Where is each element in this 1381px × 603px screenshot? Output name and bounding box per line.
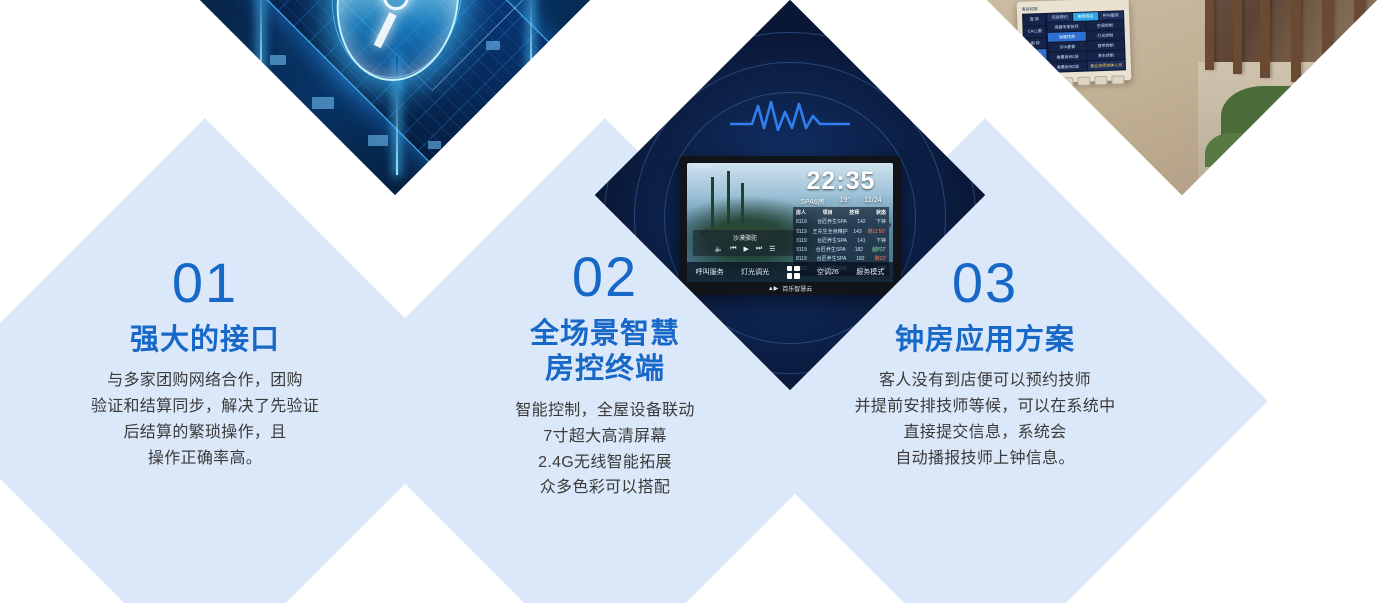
panel-grid-item[interactable]: 茶水控制 — [1087, 50, 1125, 60]
panel-grid-item[interactable]: 窗帘控制 — [1087, 40, 1125, 50]
light-beam — [260, 0, 262, 75]
panel-button-on[interactable] — [1094, 76, 1107, 85]
heartbeat-pulse-icon — [730, 98, 850, 134]
circuit-chip — [270, 55, 286, 65]
panel-function-grid[interactable]: 保健专家技师 空调控制 保健技师 灯光控制 SPA套餐 窗帘控制 香薰房间1层 … — [1048, 20, 1125, 72]
wallpaper-tree — [727, 171, 730, 233]
panel-menu-item[interactable]: 查 钟 — [1025, 61, 1048, 73]
panel-button-menu[interactable] — [1060, 77, 1073, 86]
playlist-icon[interactable]: ☰ — [769, 245, 775, 253]
panel-button-back[interactable] — [1043, 78, 1056, 87]
wood-slat — [1354, 0, 1365, 90]
wallpaper-tree — [711, 177, 714, 233]
media-controls[interactable]: 🔈 ⏮ ▶ ⏭ ☰ — [714, 245, 775, 253]
card-01-image — [200, 0, 590, 195]
cyber-shield-scene — [200, 0, 590, 195]
home-grid-icon[interactable] — [787, 266, 800, 279]
brand-name: 百乐智慧云 — [782, 284, 812, 293]
panel-menu-item-selected[interactable]: 换钟员 — [1024, 49, 1047, 61]
brand-arrow-icon: ▲▶ — [768, 285, 779, 292]
panel-tab[interactable]: 空房预约 — [1048, 13, 1073, 22]
panel-grid-item[interactable]: 灯光控制 — [1087, 30, 1125, 40]
card-02-description: 智能控制，全屋设备联动 7寸超大高清屏幕 2.4G无线智能拓展 众多色彩可以搭配 — [515, 398, 694, 502]
feature-diamonds-banner: 01 强大的接口 与多家团购网络合作，团购 验证和结算同步，解决了先验证 后结算… — [0, 0, 1381, 603]
media-track-title: 沙漠骆驼 — [733, 233, 757, 242]
wood-slat — [1291, 0, 1301, 82]
circuit-chip — [428, 141, 441, 149]
tablet-brand-bar: ▲▶ 百乐智慧云 — [679, 282, 901, 294]
card-01-number: 01 — [172, 255, 238, 311]
table-row: 8119 台匠养生SPA 142 下钟 — [794, 218, 888, 227]
clock-room: SPA6房 — [800, 197, 824, 207]
taskbar-lighting[interactable]: 灯光调光 — [741, 267, 769, 277]
panel-button-settings[interactable] — [1077, 76, 1090, 85]
table-row: 8119 王先生全身精护 143 剩11'50" — [794, 228, 888, 237]
card-03-description: 客人没有到店便可以预约技师 并提前安排技师等候，可以在系统中 直接提交信息，系统… — [855, 368, 1116, 472]
panel-button-off[interactable] — [1111, 75, 1124, 84]
clock-date: 11/24 — [865, 197, 882, 207]
card-03-number: 03 — [952, 255, 1018, 311]
card-01-title: 强大的接口 — [130, 323, 280, 358]
card-03-title: 钟房应用方案 — [895, 323, 1075, 358]
wood-slat — [1260, 0, 1270, 78]
table-header-row: 房人 项目 技师 状态 — [794, 209, 888, 218]
card-01-description: 与多家团购网络合作，团购 验证和结算同步，解决了先验证 后结算的繁琐操作，且 操… — [91, 368, 319, 472]
wood-slat — [1322, 0, 1333, 86]
circuit-chip — [486, 41, 500, 50]
panel-button-confirm[interactable] — [1026, 78, 1039, 87]
wood-slat — [1233, 0, 1242, 74]
camera-icon — [887, 223, 891, 227]
panel-grid-item-active[interactable]: 保健技师 — [1048, 32, 1086, 42]
volume-icon[interactable]: 🔈 — [714, 245, 723, 253]
panel-grid-item[interactable]: 空调控制 — [1086, 20, 1124, 30]
taskbar-service-mode[interactable]: 服务模式 — [856, 267, 884, 277]
card-03-image: 客房控制 查 钟 CALL服 画 钟 换钟员 查 钟 空房预约 技 — [987, 0, 1377, 195]
room-control-tablet[interactable]: CS1280 22:35 SPA6房 19° 11/24 房人 — [679, 156, 901, 295]
panel-screen[interactable]: 查 钟 CALL服 画 钟 换钟员 查 钟 空房预约 技师到店 呼叫服务 — [1022, 10, 1126, 74]
panel-menu-item[interactable]: 画 钟 — [1024, 38, 1047, 50]
card-02-title: 全场景智慧 房控终端 — [530, 317, 680, 388]
previous-icon[interactable]: ⏮ — [730, 245, 736, 253]
clock-time: 22:35 — [793, 169, 889, 194]
potted-plant — [1268, 117, 1328, 163]
panel-menu-item[interactable]: CALL服 — [1024, 26, 1047, 38]
panel-menu-item[interactable]: 查 钟 — [1023, 14, 1046, 26]
circuit-chip — [518, 73, 536, 84]
panel-grid-item[interactable]: 香薰房间1层 — [1049, 52, 1087, 62]
tablet-taskbar[interactable]: 呼叫服务 灯光调光 空调26 服务模式 — [687, 262, 893, 282]
panel-side-menu[interactable]: 查 钟 CALL服 画 钟 换钟员 查 钟 — [1022, 13, 1049, 74]
wall-control-panel[interactable]: 客房控制 查 钟 CALL服 画 钟 换钟员 查 钟 空房预约 技 — [1017, 0, 1132, 84]
circuit-chip — [312, 97, 334, 109]
spa-room-scene: 客房控制 查 钟 CALL服 画 钟 换钟员 查 钟 空房预约 技 — [987, 0, 1377, 195]
clock-widget: 22:35 SPA6房 19° 11/24 — [793, 169, 889, 207]
taskbar-call-service[interactable]: 呼叫服务 — [696, 267, 724, 277]
panel-tab[interactable]: 呼叫服务 — [1099, 11, 1124, 20]
panel-grid-item[interactable]: 保健专家技师 — [1048, 22, 1086, 32]
card-02-number: 02 — [572, 249, 638, 305]
panel-tab-active[interactable]: 技师到店 — [1073, 12, 1098, 21]
table-row: 8119 台匠养生SPA 182 超时2' — [794, 246, 888, 255]
media-player-widget[interactable]: 沙漠骆驼 🔈 ⏮ ▶ ⏭ ☰ — [693, 230, 797, 256]
wood-slat — [1205, 0, 1214, 70]
clock-temperature: 19° — [839, 197, 850, 207]
panel-grid-item[interactable]: 香薰房间2层 — [1049, 62, 1087, 72]
taskbar-air-conditioner[interactable]: 空调26 — [817, 267, 839, 277]
tablet-screen[interactable]: CS1280 22:35 SPA6房 19° 11/24 房人 — [687, 163, 893, 282]
circuit-chip — [368, 135, 388, 146]
light-beam — [530, 0, 532, 75]
panel-grid-item[interactable]: SPA套餐 — [1049, 42, 1087, 52]
tablet-brand-logo: CS1280 — [691, 164, 711, 170]
play-icon[interactable]: ▶ — [744, 245, 749, 253]
table-row: 8119 台匠养生SPA 141 下钟 — [794, 237, 888, 246]
panel-main-area[interactable]: 空房预约 技师到店 呼叫服务 保健专家技师 空调控制 保健技师 灯光控制 SPA… — [1047, 10, 1127, 73]
panel-grid-item-alert[interactable]: 营业技师排钟人员 — [1088, 60, 1126, 70]
next-icon[interactable]: ⏭ — [756, 245, 762, 253]
